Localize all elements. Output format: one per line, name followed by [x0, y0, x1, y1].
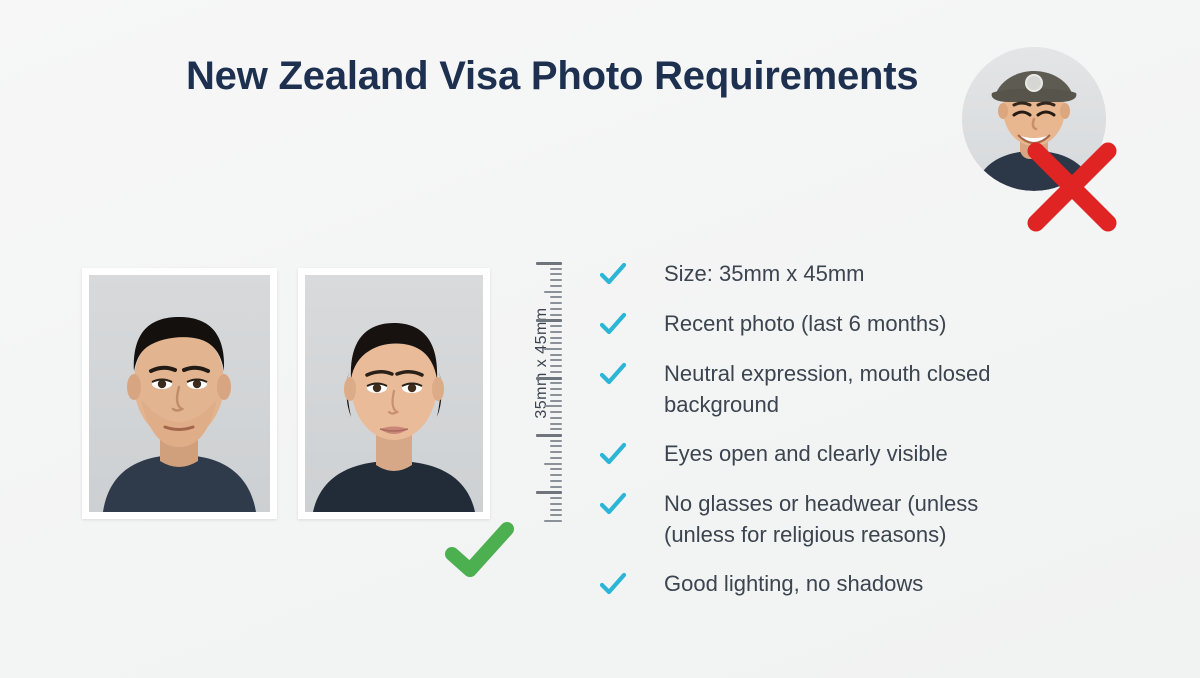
photo-female-image — [305, 275, 483, 512]
ruler-tick — [536, 434, 562, 437]
checklist-item-label: Good lighting, no shadows — [664, 568, 1158, 599]
ruler-tick — [536, 319, 562, 322]
check-icon — [598, 440, 628, 470]
checklist-item-4: Eyes open and clearly visible — [598, 438, 1158, 470]
slide-canvas: New Zealand Visa Photo Requirements — [0, 0, 1200, 678]
requirements-checklist: Size: 35mm x 45mmRecent photo (last 6 mo… — [598, 258, 1158, 618]
approved-photo-female — [298, 268, 490, 519]
check-icon — [598, 310, 628, 340]
check-icon — [598, 490, 628, 520]
checklist-item-6: Good lighting, no shadows — [598, 568, 1158, 600]
approved-photo-male — [82, 268, 277, 519]
checklist-item-label: No glasses or headwear (unless(unless fo… — [664, 488, 1158, 550]
checklist-item-1: Size: 35mm x 45mm — [598, 258, 1158, 290]
ruler-tick — [536, 491, 562, 494]
ruler-tick-marks — [532, 262, 562, 520]
ruler-tick — [536, 377, 562, 380]
checklist-item-2: Recent photo (last 6 months) — [598, 308, 1158, 340]
avatar-portrait-illustration — [962, 47, 1106, 191]
ruler-tick — [544, 520, 562, 522]
ruler-spine — [560, 262, 562, 520]
checklist-item-label: Recent photo (last 6 months) — [664, 308, 1158, 339]
ruler-tick — [536, 262, 562, 265]
checklist-item-label: Neutral expression, mouth closedbackgrou… — [664, 358, 1158, 420]
photo-size-ruler: 35mm x 45mm — [512, 262, 562, 520]
photo-female-portrait — [305, 275, 483, 512]
checklist-item-5: No glasses or headwear (unless(unless fo… — [598, 488, 1158, 550]
check-icon — [598, 260, 628, 290]
photo-male-portrait — [89, 275, 270, 512]
check-icon — [598, 570, 628, 600]
avatar-circle — [962, 47, 1106, 191]
check-icon — [598, 360, 628, 390]
checklist-item-3: Neutral expression, mouth closedbackgrou… — [598, 358, 1158, 420]
rejected-photo-avatar — [962, 47, 1106, 191]
checklist-item-label: Size: 35mm x 45mm — [664, 258, 1158, 289]
checklist-item-label-line2: (unless for religious reasons) — [664, 519, 1158, 550]
photo-male-image — [89, 275, 270, 512]
checklist-item-label: Eyes open and clearly visible — [664, 438, 1158, 469]
green-check-icon — [444, 520, 516, 580]
checklist-item-label-line2: background — [664, 389, 1158, 420]
page-title: New Zealand Visa Photo Requirements — [186, 54, 918, 99]
